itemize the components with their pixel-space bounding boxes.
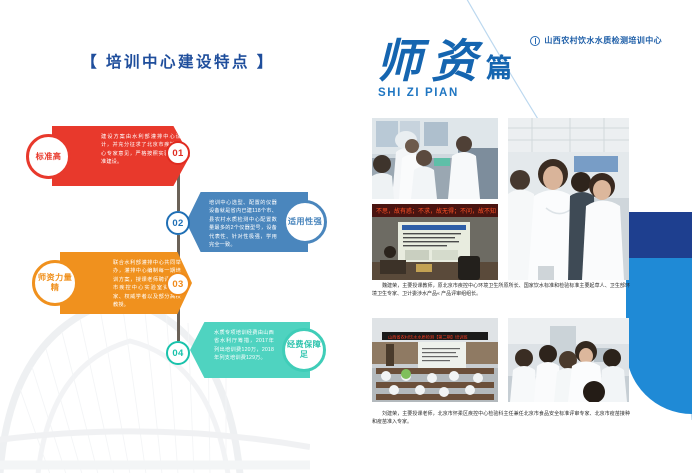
brand-name: 山西农村饮水水质检测培训中心 (544, 35, 662, 46)
caption-top: 魏建荣，主要授课教师，原北京市疾控中心环境卫生所原所长、国家饮水标准和检验标准主… (372, 282, 630, 299)
feature-badge-3[interactable]: 师资力量精 (32, 260, 78, 306)
brand-lockup: 山西农村饮水水质检测培训中心 (530, 35, 662, 46)
photo-lecture-hall[interactable]: 山西省农村饮水水质检测【第二期】培训班 (372, 318, 498, 402)
section-title-pinyin: SHI ZI PIAN (378, 87, 512, 99)
timeline-node-3[interactable]: 03 (166, 272, 190, 296)
section-title-cn-suffix: 篇 (486, 54, 512, 84)
photo-lab-trainees[interactable] (508, 318, 629, 402)
svg-text:山西省农村饮水水质检测【第二期】培训班: 山西省农村饮水水质检测【第二期】培训班 (388, 334, 468, 341)
photo-classroom-screen[interactable]: 不思，故有惑；不求，故无得；不问，故不知 (372, 204, 498, 280)
brand-logo-icon (530, 36, 540, 46)
left-panel: 【 培训中心建设特点 】 建设方案由水利部灌排中心设计，并充分征求了北京市疾控中… (0, 0, 356, 473)
left-panel-title: 【 培训中心建设特点 】 (0, 50, 356, 72)
photo-lab-group-large[interactable] (508, 118, 629, 280)
feature-text-4: 水质专项培训经费由山西省水利厅筹措，2017年列出培训费120万，2018年列支… (205, 322, 283, 370)
feature-badge-1[interactable]: 标准高 (26, 134, 71, 179)
section-title-cn-main: 师资 (376, 34, 486, 88)
right-panel: 山西农村饮水水质检测培训中心 师资篇 SHI ZI PIAN (356, 0, 692, 473)
poster-page: 【 培训中心建设特点 】 建设方案由水利部灌排中心设计，并充分征求了北京市疾控中… (0, 0, 692, 473)
svg-text:不思，故有惑；不求，故无得；不问，故不知: 不思，故有惑；不求，故无得；不问，故不知 (376, 207, 496, 215)
timeline-node-1[interactable]: 01 (166, 141, 190, 165)
section-title-cn: 师资篇 (376, 38, 512, 84)
timeline-node-2[interactable]: 02 (166, 211, 190, 235)
feature-badge-2[interactable]: 适用性强 (283, 200, 327, 244)
photo-lab-instruction[interactable] (372, 118, 498, 199)
section-title-block: 师资篇 SHI ZI PIAN (376, 38, 512, 99)
feature-badge-4[interactable]: 经费保障足 (282, 328, 326, 372)
caption-bottom: 刘建荣，主要授课老师，北京市怀柔区疾控中心检验科主任兼任北京市食品安全标准评审专… (372, 410, 630, 427)
timeline-node-4[interactable]: 04 (166, 341, 190, 365)
feature-text-2: 培训中心选型、配置的仪器设备就是省内已建118个市、县农村水质检测中心配置数量最… (200, 192, 286, 257)
